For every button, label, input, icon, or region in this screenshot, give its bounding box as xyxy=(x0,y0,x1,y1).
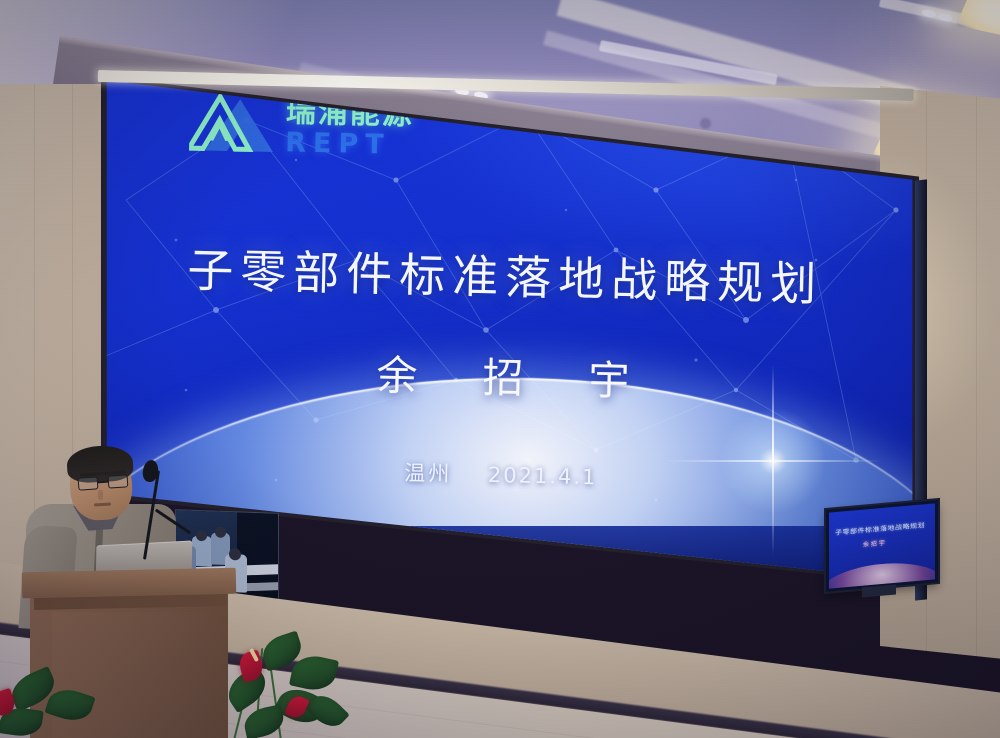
slide-meta-line: 温州 2021.4.1 xyxy=(96,450,915,498)
logo-company-en: REPT xyxy=(285,129,414,159)
slide-city: 温州 xyxy=(404,461,453,486)
conference-hall-photo: 瑞浦能源 REPT 子零部件标准落地战略规划 余 招 宇 温州 2021.4.1 xyxy=(0,0,1000,738)
logo-wordmark: 瑞浦能源 REPT xyxy=(285,97,414,159)
confidence-monitor: 子零部件标准落地战略规划 余 招 宇 xyxy=(826,500,938,592)
slide-title: 子零部件标准落地战略规划 xyxy=(96,232,920,316)
screen-surface: 瑞浦能源 REPT 子零部件标准落地战略规划 余 招 宇 温州 2021.4.1 xyxy=(96,60,924,590)
presenter-nose xyxy=(98,490,103,500)
confidence-monitor-presenter: 余 招 宇 xyxy=(863,538,885,549)
led-presentation-screen: 瑞浦能源 REPT 子零部件标准落地战略规划 余 招 宇 温州 2021.4.1 xyxy=(96,60,924,590)
slide-presenter-name: 余 招 宇 xyxy=(96,335,918,413)
decorative-plant xyxy=(0,664,134,738)
rept-triangle-logo-icon xyxy=(189,92,276,158)
confidence-monitor-title: 子零部件标准落地战略规划 xyxy=(835,520,929,537)
ceiling-light-panel xyxy=(956,0,1000,43)
slide-date: 2021.4.1 xyxy=(488,463,598,489)
lectern-top-surface xyxy=(22,568,236,598)
decorative-plant xyxy=(196,630,376,738)
confidence-monitor-screen: 子零部件标准落地战略规划 余 招 宇 xyxy=(829,503,935,588)
